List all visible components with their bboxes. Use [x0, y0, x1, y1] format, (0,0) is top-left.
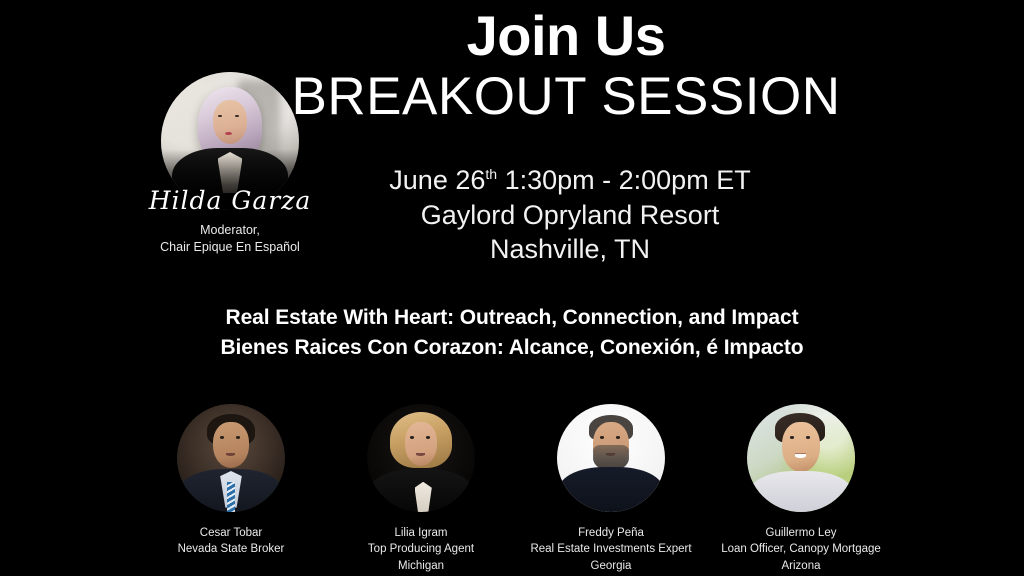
event-city-state: Nashville, TN — [290, 232, 850, 267]
speaker-title: Real Estate Investments Expert — [526, 541, 696, 557]
speaker-location: Georgia — [526, 558, 696, 574]
page-subtitle: BREAKOUT SESSION — [256, 66, 876, 129]
event-date: June 26 — [389, 165, 485, 195]
speaker-mouth — [416, 453, 425, 456]
speaker-avatar — [557, 404, 665, 512]
moderator-signature: Hilda Garza — [130, 184, 330, 218]
speaker-tshirt — [559, 467, 663, 512]
speaker-mouth — [795, 454, 806, 458]
moderator-role-line-1: Moderator, — [130, 222, 330, 239]
session-title: Real Estate With Heart: Outreach, Connec… — [112, 303, 912, 363]
speaker-list: Cesar Tobar Nevada State Broker Lilia Ig… — [146, 404, 886, 574]
speaker-title: Nevada State Broker — [146, 541, 316, 557]
speaker-face — [213, 422, 250, 467]
speaker-face — [405, 422, 437, 465]
moderator-role: Moderator, Chair Epique En Español — [130, 222, 330, 256]
speaker-avatar — [367, 404, 475, 512]
speaker-card: Guillermo Ley Loan Officer, Canopy Mortg… — [716, 404, 886, 574]
speaker-eye-left — [410, 436, 414, 438]
speaker-name: Cesar Tobar — [146, 525, 316, 541]
speaker-caption: Guillermo Ley Loan Officer, Canopy Mortg… — [716, 525, 886, 574]
speaker-mouth — [606, 453, 615, 456]
speaker-mouth — [226, 453, 235, 456]
speaker-card: Lilia Igram Top Producing Agent Michigan — [336, 404, 506, 574]
speaker-face — [782, 422, 821, 472]
event-poster: Join Us BREAKOUT SESSION June 26th 1:30p… — [0, 0, 1024, 576]
speaker-location: Michigan — [336, 558, 506, 574]
page-title: Join Us — [256, 6, 876, 66]
speaker-card: Cesar Tobar Nevada State Broker — [146, 404, 316, 558]
speaker-caption: Cesar Tobar Nevada State Broker — [146, 525, 316, 558]
event-datetime: June 26th 1:30pm - 2:00pm ET — [290, 163, 850, 198]
speaker-shirt — [749, 471, 853, 512]
speaker-name: Freddy Peña — [526, 525, 696, 541]
speaker-eye-left — [600, 436, 604, 438]
speaker-avatar — [747, 404, 855, 512]
speaker-avatar — [177, 404, 285, 512]
speaker-name: Lilia Igram — [336, 525, 506, 541]
headline-block: Join Us BREAKOUT SESSION — [256, 6, 876, 129]
date-ordinal-suffix: th — [485, 166, 497, 182]
session-title-english: Real Estate With Heart: Outreach, Connec… — [112, 303, 912, 333]
speaker-title: Loan Officer, Canopy Mortgage — [716, 541, 886, 557]
speaker-eye-left — [220, 436, 224, 438]
speaker-tie — [227, 482, 235, 512]
moderator-block: Hilda Garza Moderator, Chair Epique En E… — [130, 72, 330, 256]
speaker-caption: Lilia Igram Top Producing Agent Michigan — [336, 525, 506, 574]
speaker-title: Top Producing Agent — [336, 541, 506, 557]
event-venue: Gaylord Opryland Resort — [290, 198, 850, 233]
moderator-role-line-2: Chair Epique En Español — [130, 239, 330, 256]
speaker-caption: Freddy Peña Real Estate Investments Expe… — [526, 525, 696, 574]
speaker-card: Freddy Peña Real Estate Investments Expe… — [526, 404, 696, 574]
speaker-eye-left — [790, 436, 794, 438]
speaker-location: Arizona — [716, 558, 886, 574]
event-details: June 26th 1:30pm - 2:00pm ET Gaylord Opr… — [290, 163, 850, 267]
session-title-spanish: Bienes Raices Con Corazon: Alcance, Cone… — [112, 333, 912, 363]
speaker-name: Guillermo Ley — [716, 525, 886, 541]
event-time: 1:30pm - 2:00pm ET — [497, 165, 751, 195]
